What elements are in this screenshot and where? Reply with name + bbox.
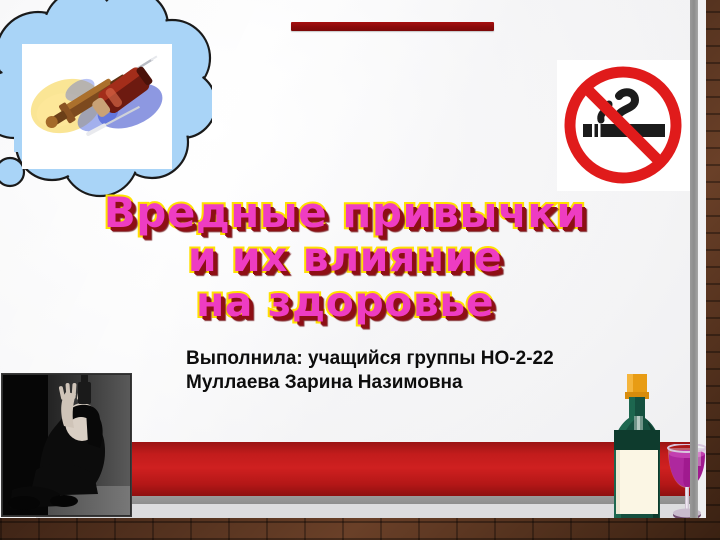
bottom-red-band [36, 442, 690, 496]
wine-glass [664, 444, 706, 518]
slide-title: Вредные привычки и их влияние на здоровь… [0, 190, 690, 325]
red-rule-decoration [291, 22, 494, 31]
bottom-white-strip [36, 504, 690, 518]
title-line-2: и их влияние [0, 235, 690, 280]
thought-cloud [0, 0, 212, 206]
no-smoking-sign [557, 60, 690, 191]
bottom-gray-band [36, 496, 690, 504]
syringe-and-ampoule-photo [22, 44, 172, 169]
slide-stage: Вредные привычки и их влияние на здоровь… [0, 0, 720, 540]
right-vertical-rail [690, 0, 698, 518]
wine-bottle [608, 372, 666, 518]
syringe-ampoule-illustration [22, 44, 172, 169]
author-subtitle: Выполнила: учащийся группы НО-2-22 Мулла… [186, 347, 616, 395]
despair-illustration [2, 374, 131, 516]
wine-bottle-icon [608, 372, 666, 518]
no-smoking-icon [557, 60, 690, 191]
presentation-slide: Вредные привычки и их влияние на здоровь… [0, 0, 706, 518]
wine-glass-icon [664, 444, 706, 518]
person-with-bottle-photo [1, 373, 132, 517]
title-line-3: на здоровье [0, 280, 690, 325]
